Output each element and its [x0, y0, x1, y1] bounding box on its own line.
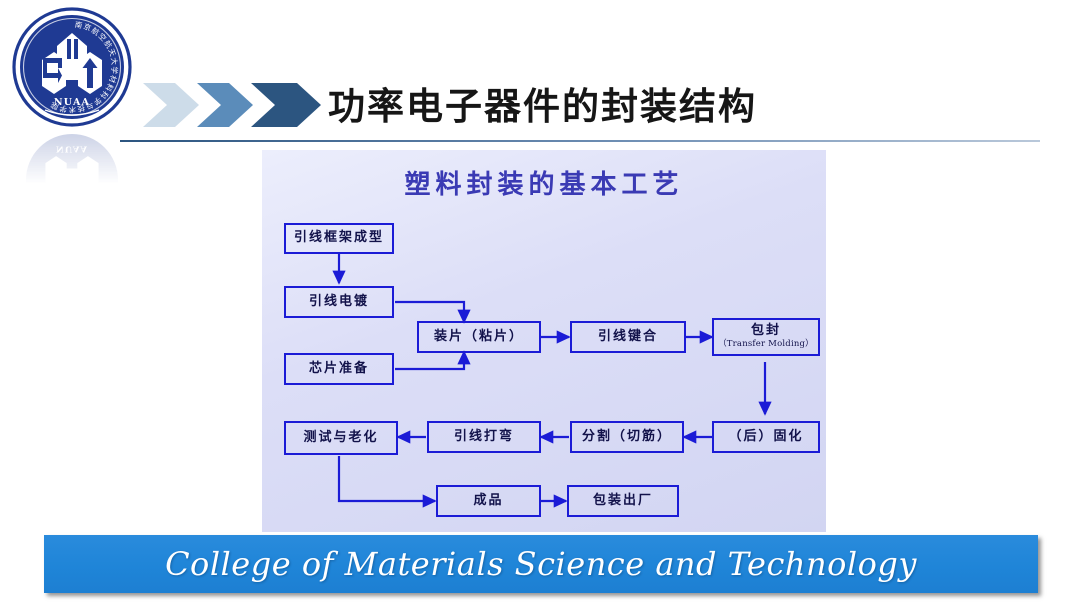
node-label-zh: 装片（粘片） — [434, 330, 524, 344]
node-label-en: （Transfer Molding） — [718, 340, 814, 350]
flow-node-lead-frame-forming[interactable]: 引线框架成型 — [284, 223, 394, 254]
flow-node-packaging-shipment[interactable]: 包装出厂 — [567, 485, 679, 517]
title-underline — [120, 140, 1040, 142]
flowchart-canvas: 引线框架成型 引线电镀 芯片准备 装片（粘片） 引线键合 包封 （Transfe… — [262, 150, 826, 532]
svg-text:NUAA: NUAA — [54, 97, 90, 108]
footer-banner: College of Materials Science and Technol… — [44, 535, 1038, 593]
node-label-zh: 引线打弯 — [454, 430, 514, 444]
chevron-2-icon — [197, 83, 255, 127]
logo-reflection: NUAA — [18, 126, 126, 184]
flow-node-molding[interactable]: 包封 （Transfer Molding） — [712, 318, 820, 356]
header-chevrons — [143, 83, 323, 127]
chevron-3-icon — [251, 83, 323, 127]
nuaa-seal-icon: 南京航空航天大学材料科学与技术学院 NUAA — [11, 6, 133, 128]
svg-text:NUAA: NUAA — [56, 144, 88, 154]
flow-node-lead-plating[interactable]: 引线电镀 — [284, 286, 394, 318]
flow-node-post-cure[interactable]: （后）固化 — [712, 421, 820, 453]
node-label-zh: 引线键合 — [598, 330, 658, 344]
node-label-zh: 引线电镀 — [309, 295, 369, 309]
flow-node-lead-forming[interactable]: 引线打弯 — [427, 421, 541, 453]
flow-node-chip-preparation[interactable]: 芯片准备 — [284, 353, 394, 385]
node-label-zh: 包封 — [751, 324, 781, 338]
node-label-zh: 引线框架成型 — [294, 231, 384, 245]
node-label-zh: （后）固化 — [728, 430, 803, 444]
nuaa-logo: 南京航空航天大学材料科学与技术学院 NUAA — [11, 6, 133, 128]
flow-node-singulation[interactable]: 分割（切筋） — [570, 421, 684, 453]
flow-node-wire-bonding[interactable]: 引线键合 — [570, 321, 686, 353]
node-label-zh: 分割（切筋） — [582, 430, 672, 444]
flow-node-finished-product[interactable]: 成品 — [436, 485, 541, 517]
page-title: 功率电子器件的封装结构 — [328, 76, 757, 130]
node-label-zh: 测试与老化 — [303, 431, 378, 445]
footer-text: College of Materials Science and Technol… — [165, 545, 917, 583]
slide-canvas: 南京航空航天大学材料科学与技术学院 NUAA — [0, 0, 1080, 608]
flow-node-die-attach[interactable]: 装片（粘片） — [417, 321, 541, 353]
chevron-1-icon — [143, 83, 201, 127]
node-label-zh: 成品 — [473, 494, 503, 508]
flow-node-test-burn-in[interactable]: 测试与老化 — [284, 421, 398, 455]
node-label-zh: 芯片准备 — [309, 362, 369, 376]
flowchart-panel: 塑料封装的基本工艺 — [262, 150, 826, 532]
node-label-zh: 包装出厂 — [593, 494, 653, 508]
